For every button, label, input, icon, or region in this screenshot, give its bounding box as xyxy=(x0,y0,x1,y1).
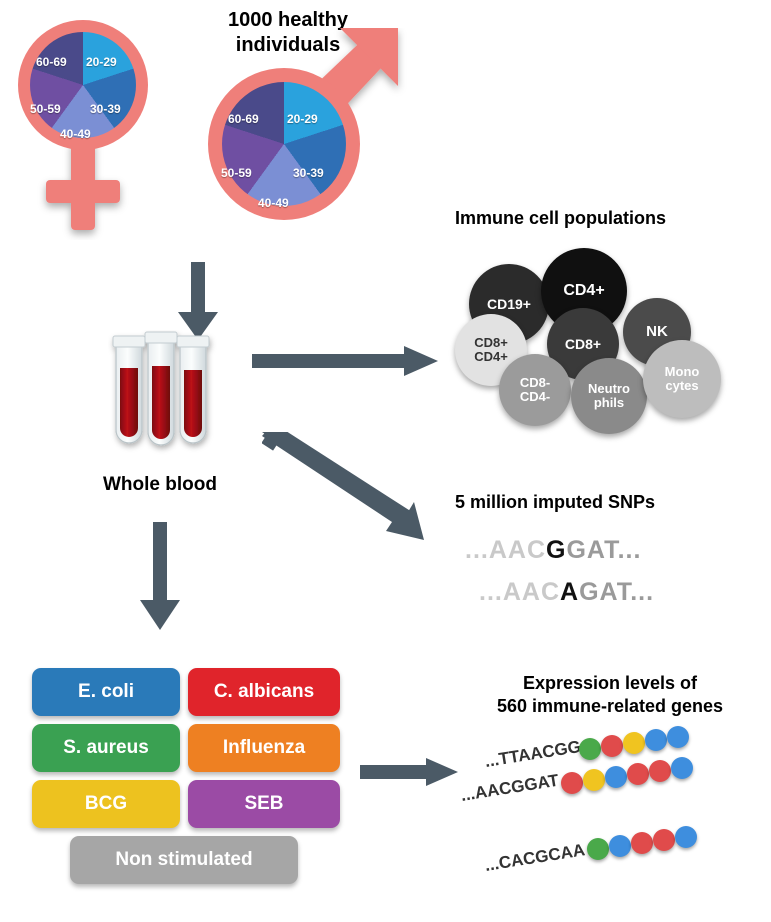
stimulus-influenza-label: Influenza xyxy=(223,737,305,759)
male-slice-label-20-29: 20-29 xyxy=(287,112,318,126)
immune-cell-monocytes: Mono cytes xyxy=(643,340,721,418)
stimulus-s-aureus[interactable]: S. aureus xyxy=(32,724,180,772)
stimulus-c-albicans-label: C. albicans xyxy=(214,681,314,703)
expression-bead-1-2 xyxy=(601,735,623,757)
expression-bead-2-4 xyxy=(627,763,649,785)
stimuli-panel: E. coli C. albicans S. aureus Influenza … xyxy=(32,668,342,898)
male-slice-label-40-49: 40-49 xyxy=(258,196,289,210)
snp-top-allele: G xyxy=(546,536,566,564)
snp-sequences: ...AACGGAT... ...AACAGAT... xyxy=(455,530,755,620)
expression-bead-strands: ...TTAACGG ...AACGGAT ...CACGCAA xyxy=(455,730,765,900)
stimulus-bcg-label: BCG xyxy=(85,793,127,815)
immune-cell-nk-label: NK xyxy=(646,324,668,340)
expression-bead-1-3 xyxy=(623,732,645,754)
female-slice-label-60-69: 60-69 xyxy=(36,55,67,69)
male-age-pie xyxy=(222,82,346,206)
immune-cell-cluster: CD19+ CD4+ CD8+ CD4+ CD8+ NK CD8- CD4- N… xyxy=(455,236,755,416)
arrow-blood-to-stimuli xyxy=(140,522,180,632)
immune-cell-cd8-cd4-neg: CD8- CD4- xyxy=(499,354,571,426)
stimulus-non-stimulated-label: Non stimulated xyxy=(115,849,252,871)
immune-cell-cd19-label: CD19+ xyxy=(487,297,531,312)
stimulus-e-coli-label: E. coli xyxy=(78,681,134,703)
stimulus-influenza[interactable]: Influenza xyxy=(188,724,340,772)
stimulus-seb[interactable]: SEB xyxy=(188,780,340,828)
whole-blood-label: Whole blood xyxy=(60,474,260,496)
immune-cell-cd8-cd4-neg-label: CD8- CD4- xyxy=(520,376,550,403)
female-slice-label-40-49: 40-49 xyxy=(60,127,91,141)
female-slice-label-30-39: 30-39 xyxy=(90,102,121,116)
arrow-cohort-to-blood xyxy=(178,262,218,340)
stimulus-s-aureus-label: S. aureus xyxy=(63,737,149,759)
arrow-stimuli-to-expression xyxy=(360,752,470,794)
immune-cell-neutrophils-label: Neutro phils xyxy=(588,382,630,409)
expression-bead-3-4 xyxy=(653,829,675,851)
female-slice-label-50-59: 50-59 xyxy=(30,102,61,116)
male-gender-symbol: 20-29 30-39 40-49 50-59 60-69 xyxy=(190,28,420,248)
expression-title-line1: Expression levels of xyxy=(455,672,765,695)
immune-cell-cd4-label: CD4+ xyxy=(563,283,604,300)
expression-bead-3-5 xyxy=(675,826,697,848)
male-slice-label-30-39: 30-39 xyxy=(293,166,324,180)
snp-bottom-prefix: ...AAC xyxy=(479,578,560,606)
stimulus-bcg[interactable]: BCG xyxy=(32,780,180,828)
expression-bead-3-2 xyxy=(609,835,631,857)
female-age-pie xyxy=(30,32,136,138)
expression-bead-2-3 xyxy=(605,766,627,788)
stimulus-c-albicans[interactable]: C. albicans xyxy=(188,668,340,716)
expression-bead-3-3 xyxy=(631,832,653,854)
expression-bead-2-2 xyxy=(583,769,605,791)
immune-title: Immune cell populations xyxy=(455,208,755,229)
expression-sequence-3: ...CACGCAA xyxy=(483,840,586,876)
stimulus-non-stimulated[interactable]: Non stimulated xyxy=(70,836,298,884)
immune-cell-monocytes-label: Mono cytes xyxy=(665,365,700,392)
expression-bead-2-6 xyxy=(671,757,693,779)
stimulus-e-coli[interactable]: E. coli xyxy=(32,668,180,716)
snp-bottom-suffix: GAT... xyxy=(579,578,654,606)
expression-bead-1-1 xyxy=(579,738,601,760)
snp-bottom-allele: A xyxy=(560,578,579,606)
snp-top-prefix: ...AAC xyxy=(465,536,546,564)
expression-title: Expression levels of 560 immune-related … xyxy=(455,672,765,718)
arrow-blood-to-immune xyxy=(252,330,452,390)
male-slice-label-50-59: 50-59 xyxy=(221,166,252,180)
snp-top-suffix: GAT... xyxy=(566,536,641,564)
expression-sequence-2: ...AACGGAT xyxy=(459,771,560,806)
expression-bead-3-1 xyxy=(587,838,609,860)
snp-sequence-bottom: ...AACAGAT... xyxy=(479,578,654,607)
arrow-blood-to-snp xyxy=(262,432,462,552)
female-slice-label-20-29: 20-29 xyxy=(86,55,117,69)
immune-cell-cd8-cd4-pos-label: CD8+ CD4+ xyxy=(474,336,508,363)
male-slice-label-60-69: 60-69 xyxy=(228,112,259,126)
expression-sequence-1: ...TTAACGG xyxy=(483,737,582,772)
immune-cell-neutrophils: Neutro phils xyxy=(571,358,647,434)
expression-title-line2: 560 immune-related genes xyxy=(455,695,765,718)
expression-bead-1-4 xyxy=(645,729,667,751)
stimulus-seb-label: SEB xyxy=(244,793,283,815)
immune-cell-cd8-label: CD8+ xyxy=(565,337,601,352)
snp-title: 5 million imputed SNPs xyxy=(455,492,771,513)
expression-bead-2-1 xyxy=(561,772,583,794)
expression-bead-1-5 xyxy=(667,726,689,748)
snp-sequence-top: ...AACGGAT... xyxy=(465,536,641,565)
expression-bead-2-5 xyxy=(649,760,671,782)
female-gender-symbol: 20-29 30-39 40-49 50-59 60-69 xyxy=(8,10,178,240)
blood-tubes xyxy=(108,330,228,470)
